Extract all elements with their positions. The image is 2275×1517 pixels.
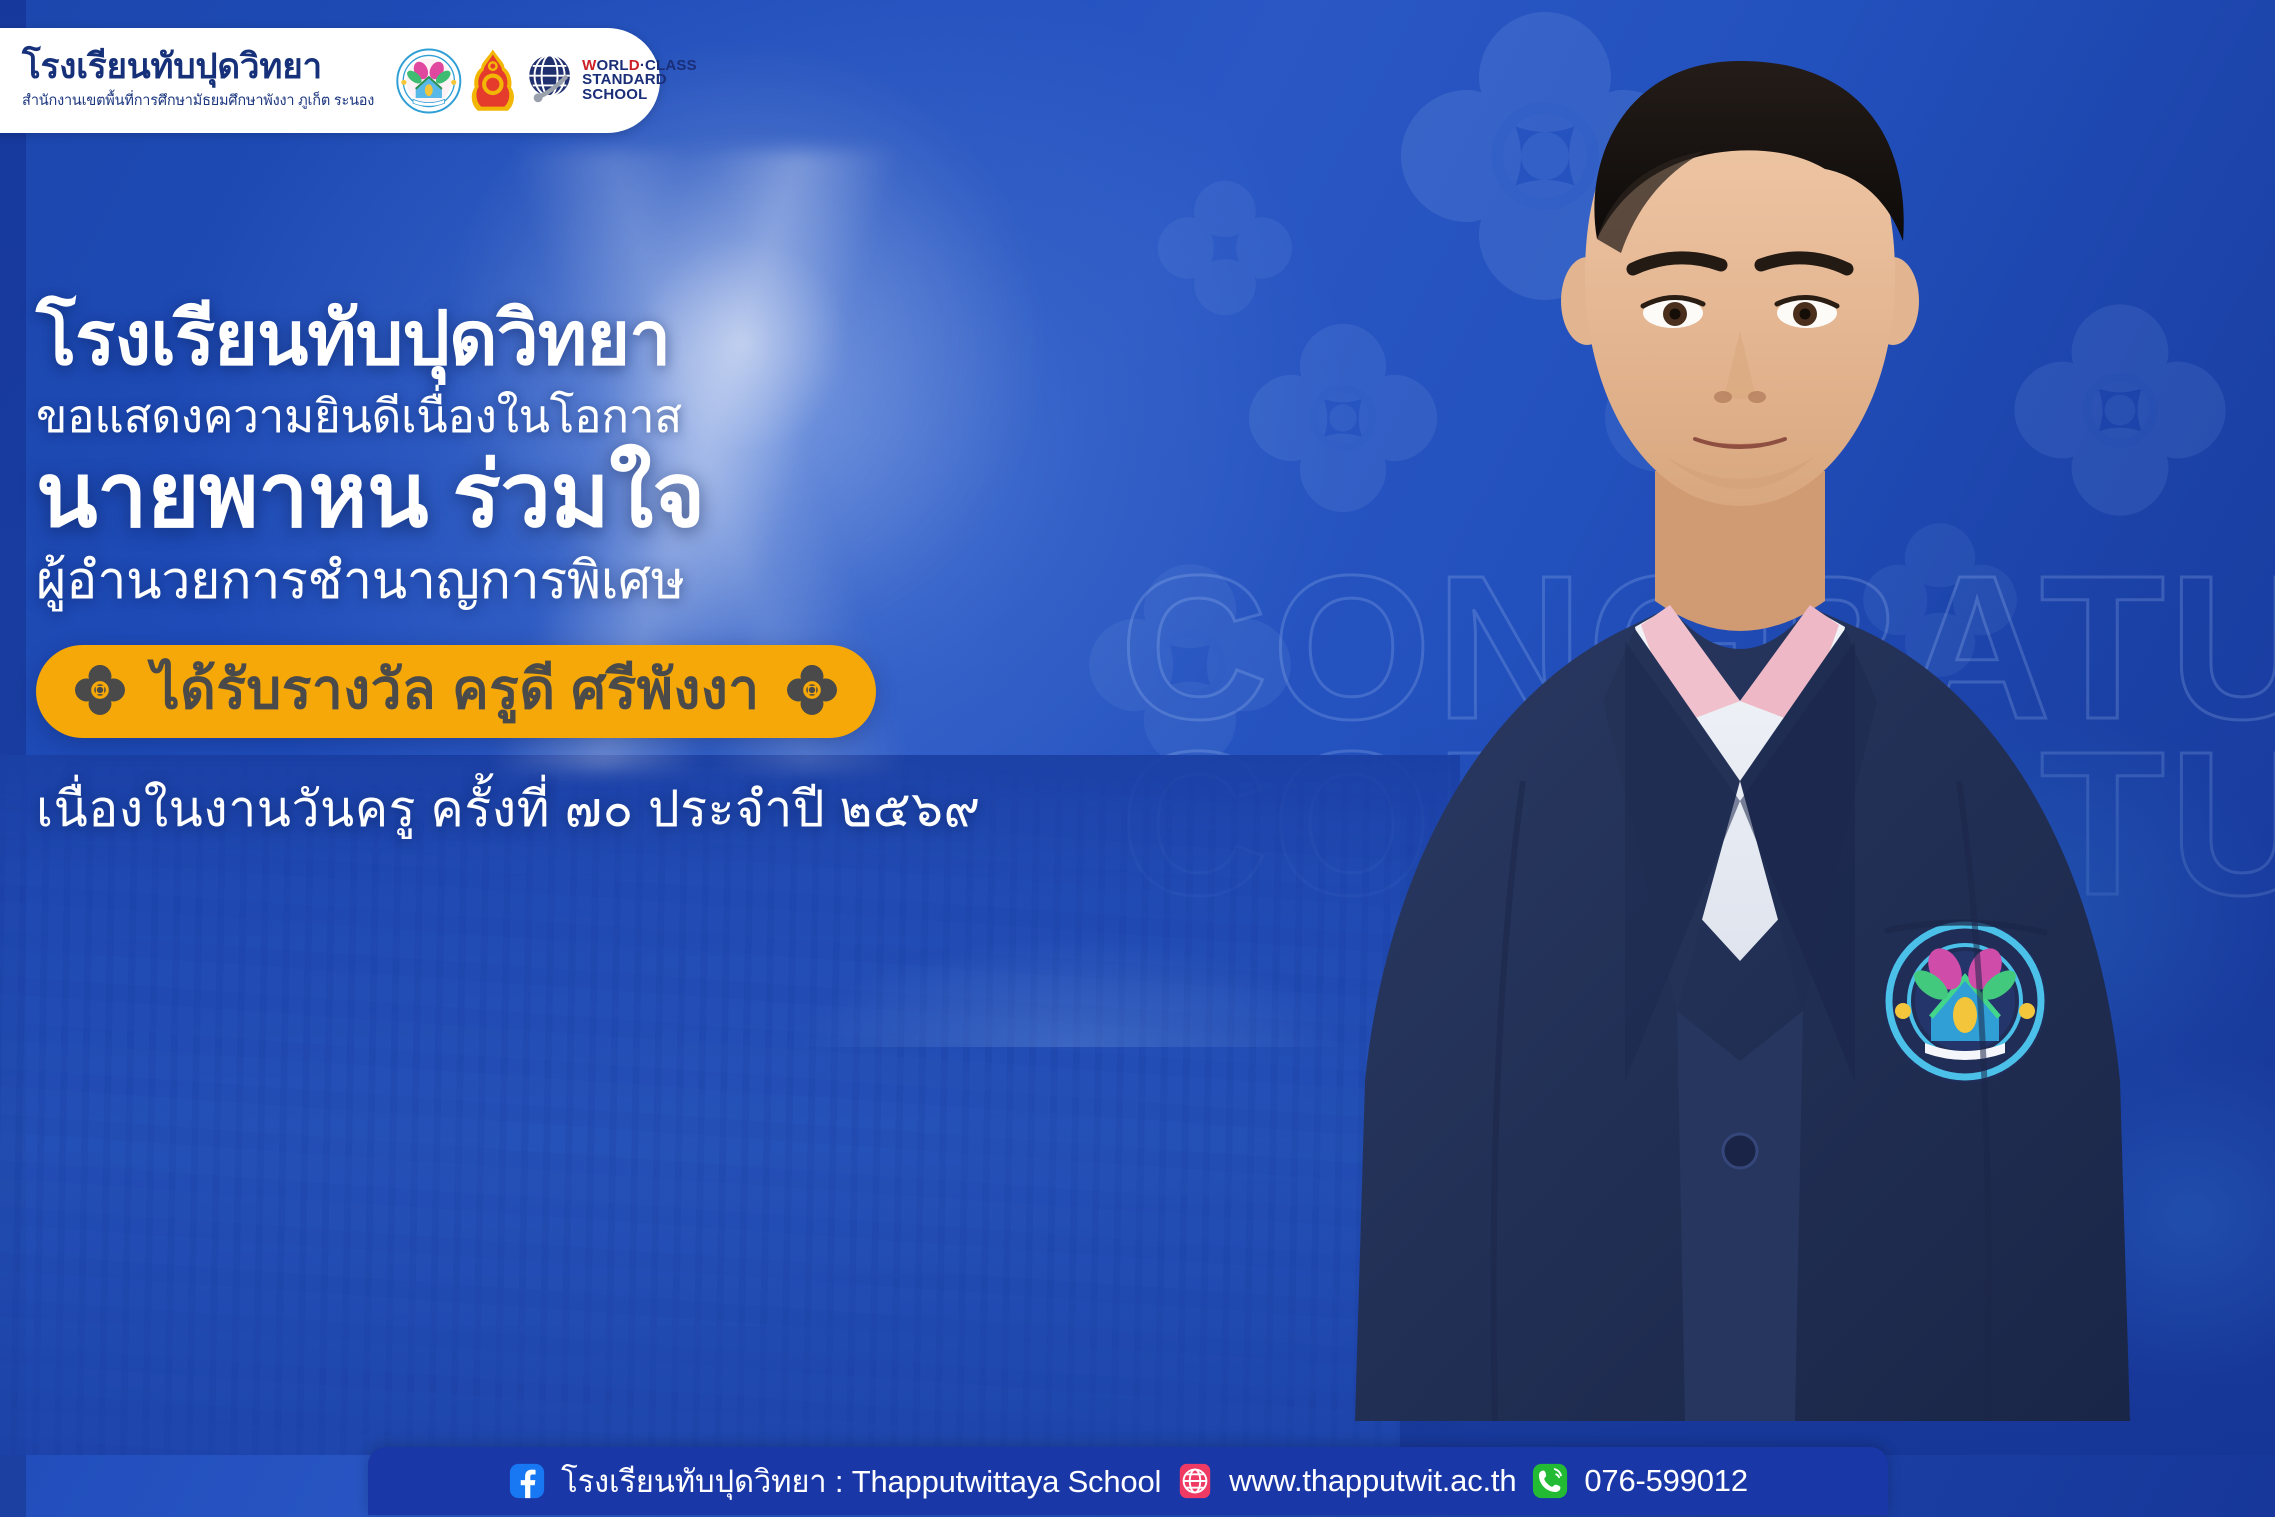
award-title: ได้รับรางวัล ครูดี ศรีพังงา [152,661,760,719]
phone-icon[interactable] [1531,1462,1569,1500]
phone-number[interactable]: 076-599012 [1584,1463,1748,1499]
school-badge-on-suit [1883,919,2047,1083]
school-name-header: โรงเรียนทับปุดวิทยา [22,49,374,84]
facebook-icon[interactable] [508,1462,546,1500]
watermark-line-2: CONGRATULATIONS [1120,736,2275,912]
quatrefoil-motif-icon [1395,6,1695,306]
school-seal-logo [396,44,462,118]
garuda-emblem-logo [468,44,518,118]
school-name-headline: โรงเรียนทับปุดวิทยา [36,300,1216,377]
wcs-line-2: STANDARD SCHOOL [582,73,719,102]
honoree-position: ผู้อำนวยการชำนาญการพิเศษ [36,553,1216,610]
quatrefoil-motif-icon [1245,320,1441,516]
left-edge-strip [0,0,26,1517]
wcs-wordmark: WORLD·CLASS STANDARD SCHOOL [582,59,719,102]
quatrefoil-motif-icon [2010,300,2230,520]
world-class-standard-school-logo: WORLD·CLASS STANDARD SCHOOL [523,49,718,113]
quatrefoil-motif-icon [1860,520,2020,680]
globe-icon[interactable] [1176,1462,1214,1500]
campus-photo-background [0,755,1460,1455]
event-line: เนื่องในงานวันครู ครั้งที่ ๗๐ ประจำปี ๒๕… [36,782,1216,837]
website-url[interactable]: www.thapputwit.ac.th [1229,1463,1516,1499]
header-logos: WORLD·CLASS STANDARD SCHOOL [396,44,719,118]
contact-footer-bar: โรงเรียนทับปุดวิทยา : Thapputwittaya Sch… [368,1447,1888,1515]
quatrefoil-motif-icon [1600,292,1850,542]
honoree-name: นายพาหน ร่วมใจ [36,450,1216,544]
header-text-block: โรงเรียนทับปุดวิทยา สำนักงานเขตพื้นที่กา… [22,49,374,112]
thai-floral-ornament-icon [786,664,838,716]
award-badge: ได้รับรางวัล ครูดี ศรีพังงา [36,645,876,739]
education-office-line: สำนักงานเขตพื้นที่การศึกษามัธยมศึกษาพังง… [22,89,374,112]
campus-trees-background [1400,695,2275,1455]
quatrefoil-motif-icon [1155,178,1295,318]
congratulation-banner: CONGRATULATIONS CONGRATULATIONS [0,0,2275,1517]
globe-icon [523,49,580,113]
watermark-line-1: CONGRATULATIONS [1120,533,2275,762]
congratulation-line: ขอแสดงความยินดีเนื่องในโอกาส [36,391,1216,442]
congratulations-watermark: CONGRATULATIONS CONGRATULATIONS [1120,560,2275,913]
main-copy-block: โรงเรียนทับปุดวิทยา ขอแสดงความยินดีเนื่อ… [36,300,1216,837]
header-logo-bar: โรงเรียนทับปุดวิทยา สำนักงานเขตพื้นที่กา… [0,28,660,133]
thai-floral-ornament-icon [74,664,126,716]
director-portrait [1325,1,2155,1421]
facebook-page-label: โรงเรียนทับปุดวิทยา : Thapputwittaya Sch… [561,1456,1161,1506]
